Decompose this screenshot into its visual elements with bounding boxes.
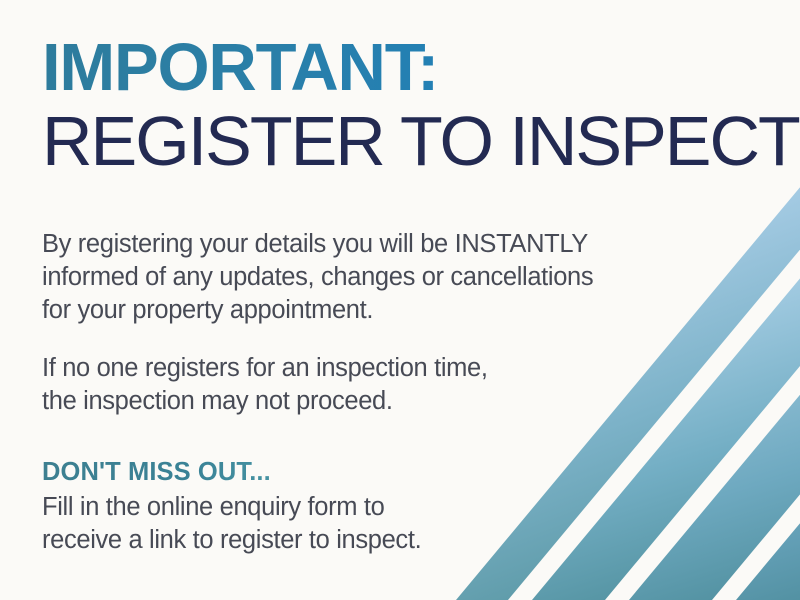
paragraph-1-line-1: By registering your details you will be … bbox=[42, 228, 593, 261]
paragraph-2-line-1: If no one registers for an inspection ti… bbox=[42, 352, 488, 385]
page-title-important: IMPORTANT: bbox=[42, 36, 742, 100]
cta-body: Fill in the online enquiry form to recei… bbox=[42, 491, 421, 557]
paragraph-1-line-2: informed of any updates, changes or canc… bbox=[42, 261, 593, 294]
page-title-register-to-inspect: REGISTER TO INSPECT bbox=[42, 106, 742, 176]
cta-heading-dont-miss-out: DON'T MISS OUT... bbox=[42, 458, 421, 487]
paragraph-registering-details: By registering your details you will be … bbox=[42, 228, 593, 327]
paragraph-1-line-3: for your property appointment. bbox=[42, 294, 593, 327]
cta-line-2: receive a link to register to inspect. bbox=[42, 524, 421, 557]
paragraph-no-registration-warning: If no one registers for an inspection ti… bbox=[42, 352, 488, 418]
paragraph-2-line-2: the inspection may not proceed. bbox=[42, 385, 488, 418]
call-to-action-block: DON'T MISS OUT... Fill in the online enq… bbox=[42, 458, 421, 557]
poster-canvas: IMPORTANT: REGISTER TO INSPECT By regist… bbox=[0, 0, 800, 600]
headline-block: IMPORTANT: REGISTER TO INSPECT bbox=[42, 36, 742, 176]
cta-line-1: Fill in the online enquiry form to bbox=[42, 491, 421, 524]
